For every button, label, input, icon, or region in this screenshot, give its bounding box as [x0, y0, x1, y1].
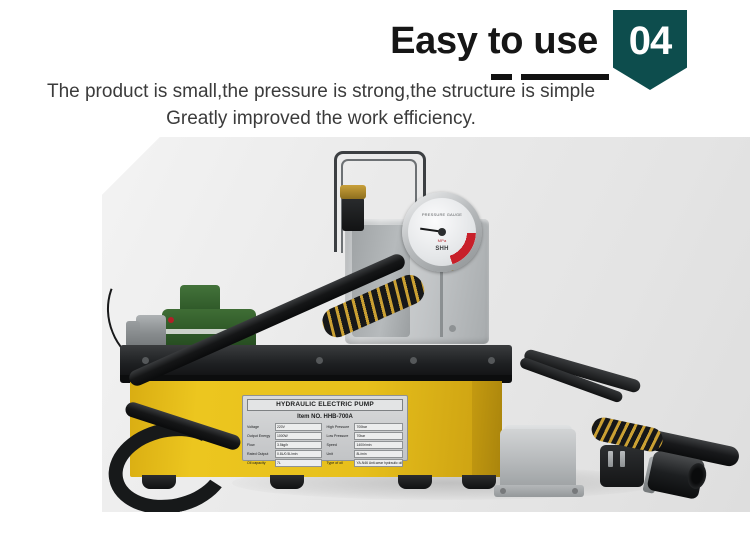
spec-key: Oil capacity — [247, 460, 273, 466]
spec-value: 8L/min — [354, 450, 403, 458]
relief-valve-knob — [340, 185, 366, 199]
pedal-mount-hole — [500, 488, 506, 494]
plug-pin — [608, 451, 613, 467]
spec-value: 7L — [275, 459, 322, 467]
nameplate-title: HYDRAULIC ELECTRIC PUMP — [247, 399, 403, 411]
plate-screw — [410, 357, 417, 364]
reservoir-side-face — [472, 381, 502, 477]
badge-number-label: 04 — [613, 19, 687, 63]
spec-key: Rated Output — [247, 451, 273, 457]
spec-value: 3.5kg/h — [275, 441, 322, 449]
spec-value: 1400r/min — [354, 441, 403, 449]
plug-pin — [620, 451, 625, 467]
page-title: Easy to use — [390, 18, 598, 64]
product-photo-panel: PRESSURE GAUGE MPa SHH HYDRAULIC ELECTRI… — [102, 137, 750, 512]
spec-value: 0.8L/0.5L/min — [275, 450, 322, 458]
spec-key: Speed — [326, 442, 352, 448]
gauge-hub — [438, 228, 446, 236]
spec-value: 700bar — [354, 423, 403, 431]
spec-row: Rated Output 0.8L/0.5L/min — [247, 450, 322, 458]
tank-foot — [270, 475, 304, 489]
spec-row: Output Energy 1000W — [247, 432, 322, 440]
subtitle-line-1: The product is small,the pressure is str… — [0, 78, 642, 105]
nameplate-item-number: Item NO. HHB-700A — [247, 413, 403, 421]
spec-row: Speed 1400r/min — [326, 441, 403, 449]
spec-key: Type of oil — [326, 460, 352, 466]
foot-pedal-switch — [500, 429, 576, 491]
gauge-unit-label: PRESSURE GAUGE — [408, 212, 476, 217]
spec-row: Type of oil YA-N46 Anti-wear hydraulic o… — [326, 459, 403, 467]
spec-row: Oil capacity 7L — [247, 459, 322, 467]
spec-value: 1000W — [275, 432, 322, 440]
spec-key: Flow — [247, 442, 273, 448]
spec-row: Low Pressure 70bar — [326, 432, 403, 440]
banner-header: Easy to use 04 The product is small,the … — [0, 0, 750, 137]
subtitle-block: The product is small,the pressure is str… — [0, 78, 750, 132]
motor-end-nut — [126, 321, 140, 347]
pedal-mount-hole — [572, 488, 578, 494]
spec-key: Output Energy — [247, 433, 273, 439]
pressure-gauge-face: PRESSURE GAUGE MPa SHH — [408, 198, 476, 266]
solenoid-indicator-dot — [168, 317, 174, 323]
subtitle-line-2: Greatly improved the work efficiency. — [0, 105, 642, 132]
plate-screw — [488, 357, 495, 364]
spec-row: Unit 8L/min — [326, 450, 403, 458]
tank-foot — [462, 475, 496, 489]
gauge-sub-label: MPa — [408, 238, 476, 243]
spec-value: 220V — [275, 423, 322, 431]
spec-row: Flow 3.5kg/h — [247, 441, 322, 449]
spec-key: Unit — [326, 451, 352, 457]
tank-foot — [398, 475, 432, 489]
relief-valve — [342, 197, 364, 231]
spec-value: YA-N46 Anti-wear hydraulic oil — [354, 459, 403, 467]
spec-key: High Pressure — [326, 424, 352, 430]
spec-row: Voltage 220V — [247, 423, 322, 431]
nameplate-spec-table: Voltage 220V High Pressure 700bar Output… — [247, 423, 403, 467]
gauge-brand-label: SHH — [408, 246, 476, 252]
spec-key: Voltage — [247, 424, 273, 430]
spec-value: 70bar — [354, 432, 403, 440]
spec-key: Low Pressure — [326, 433, 352, 439]
manifold-bolt — [449, 325, 456, 332]
plate-screw — [316, 357, 323, 364]
foot-pedal-base — [494, 485, 584, 497]
spec-row: High Pressure 700bar — [326, 423, 403, 431]
product-nameplate: HYDRAULIC ELECTRIC PUMP Item NO. HHB-700… — [242, 395, 408, 461]
